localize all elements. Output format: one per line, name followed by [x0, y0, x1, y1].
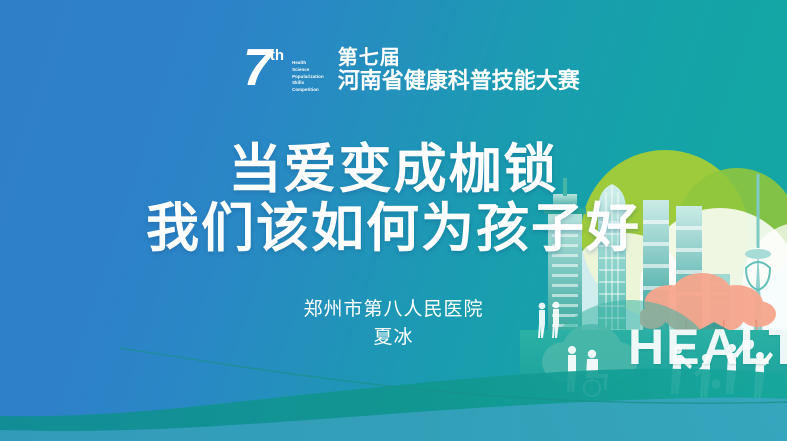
logo-chinese-title: 河南省健康科普技能大赛	[338, 70, 580, 93]
subtitle-organization: 郑州市第八人民医院	[0, 296, 787, 324]
logo-ordinal-number: 7	[243, 46, 270, 91]
headline-line-1: 当爱变成枷锁	[0, 140, 787, 199]
event-logo: 7 th Health Science Popularization Skill…	[243, 46, 580, 94]
logo-english-line-3: Popularization	[292, 74, 324, 81]
logo-english-lines: Health Science Popularization Skills Com…	[292, 60, 324, 94]
slide-subtitle: 郑州市第八人民医院 夏冰	[0, 296, 787, 351]
logo-chinese-lines: 第七届 河南省健康科普技能大赛	[338, 47, 580, 93]
logo-ordinal-group: 7 th	[243, 46, 284, 91]
logo-english-line-1: Health	[292, 60, 324, 67]
logo-english-line-5: Competition	[292, 87, 324, 94]
slide-headline: 当爱变成枷锁 我们该如何为孩子好	[0, 140, 787, 259]
logo-chinese-edition: 第七届	[338, 47, 580, 68]
logo-english-line-2: Science	[292, 67, 324, 74]
logo-ordinal-suffix: th	[270, 48, 284, 63]
subtitle-presenter: 夏冰	[0, 324, 787, 352]
logo-english-line-4: Skills	[292, 80, 324, 87]
presentation-slide: HEALTH 7 th Health Science Popularizatio…	[0, 0, 787, 441]
headline-line-2: 我们该如何为孩子好	[0, 199, 787, 258]
